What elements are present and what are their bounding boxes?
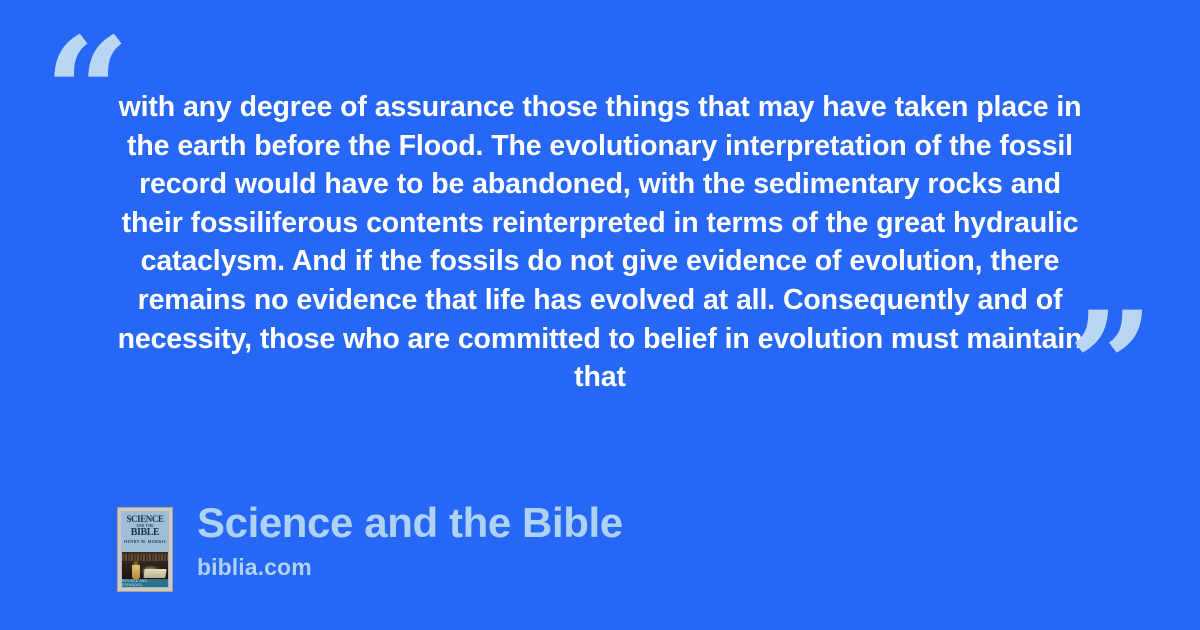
bookshelf-shape <box>122 554 168 561</box>
book-cover-title-line-1: SCIENCE <box>124 515 166 524</box>
book-cover-photo <box>122 552 168 579</box>
quote-text: with any degree of assurance those thing… <box>108 88 1092 397</box>
book-cover-title-block: SCIENCE AND THE BIBLE HENRY M. MORRIS <box>121 511 169 551</box>
open-book-shape <box>143 569 166 578</box>
book-cover-band: REVISED AND EXPANDED <box>122 579 168 587</box>
footer-attribution[interactable]: SCIENCE AND THE BIBLE HENRY M. MORRIS RE… <box>117 500 623 592</box>
book-cover-title-line-2: BIBLE <box>124 528 166 538</box>
closing-quote-icon: ” <box>1068 292 1154 442</box>
book-cover-author: HENRY M. MORRIS <box>124 540 166 544</box>
footer-text-block: Science and the Bible biblia.com <box>197 500 623 582</box>
book-cover-thumbnail[interactable]: SCIENCE AND THE BIBLE HENRY M. MORRIS RE… <box>117 507 173 592</box>
flask-shape <box>132 565 140 579</box>
quote-card: “ with any degree of assurance those thi… <box>0 0 1200 630</box>
book-cover-art: SCIENCE AND THE BIBLE HENRY M. MORRIS RE… <box>121 511 169 588</box>
site-name[interactable]: biblia.com <box>197 552 623 582</box>
book-title[interactable]: Science and the Bible <box>197 500 623 546</box>
